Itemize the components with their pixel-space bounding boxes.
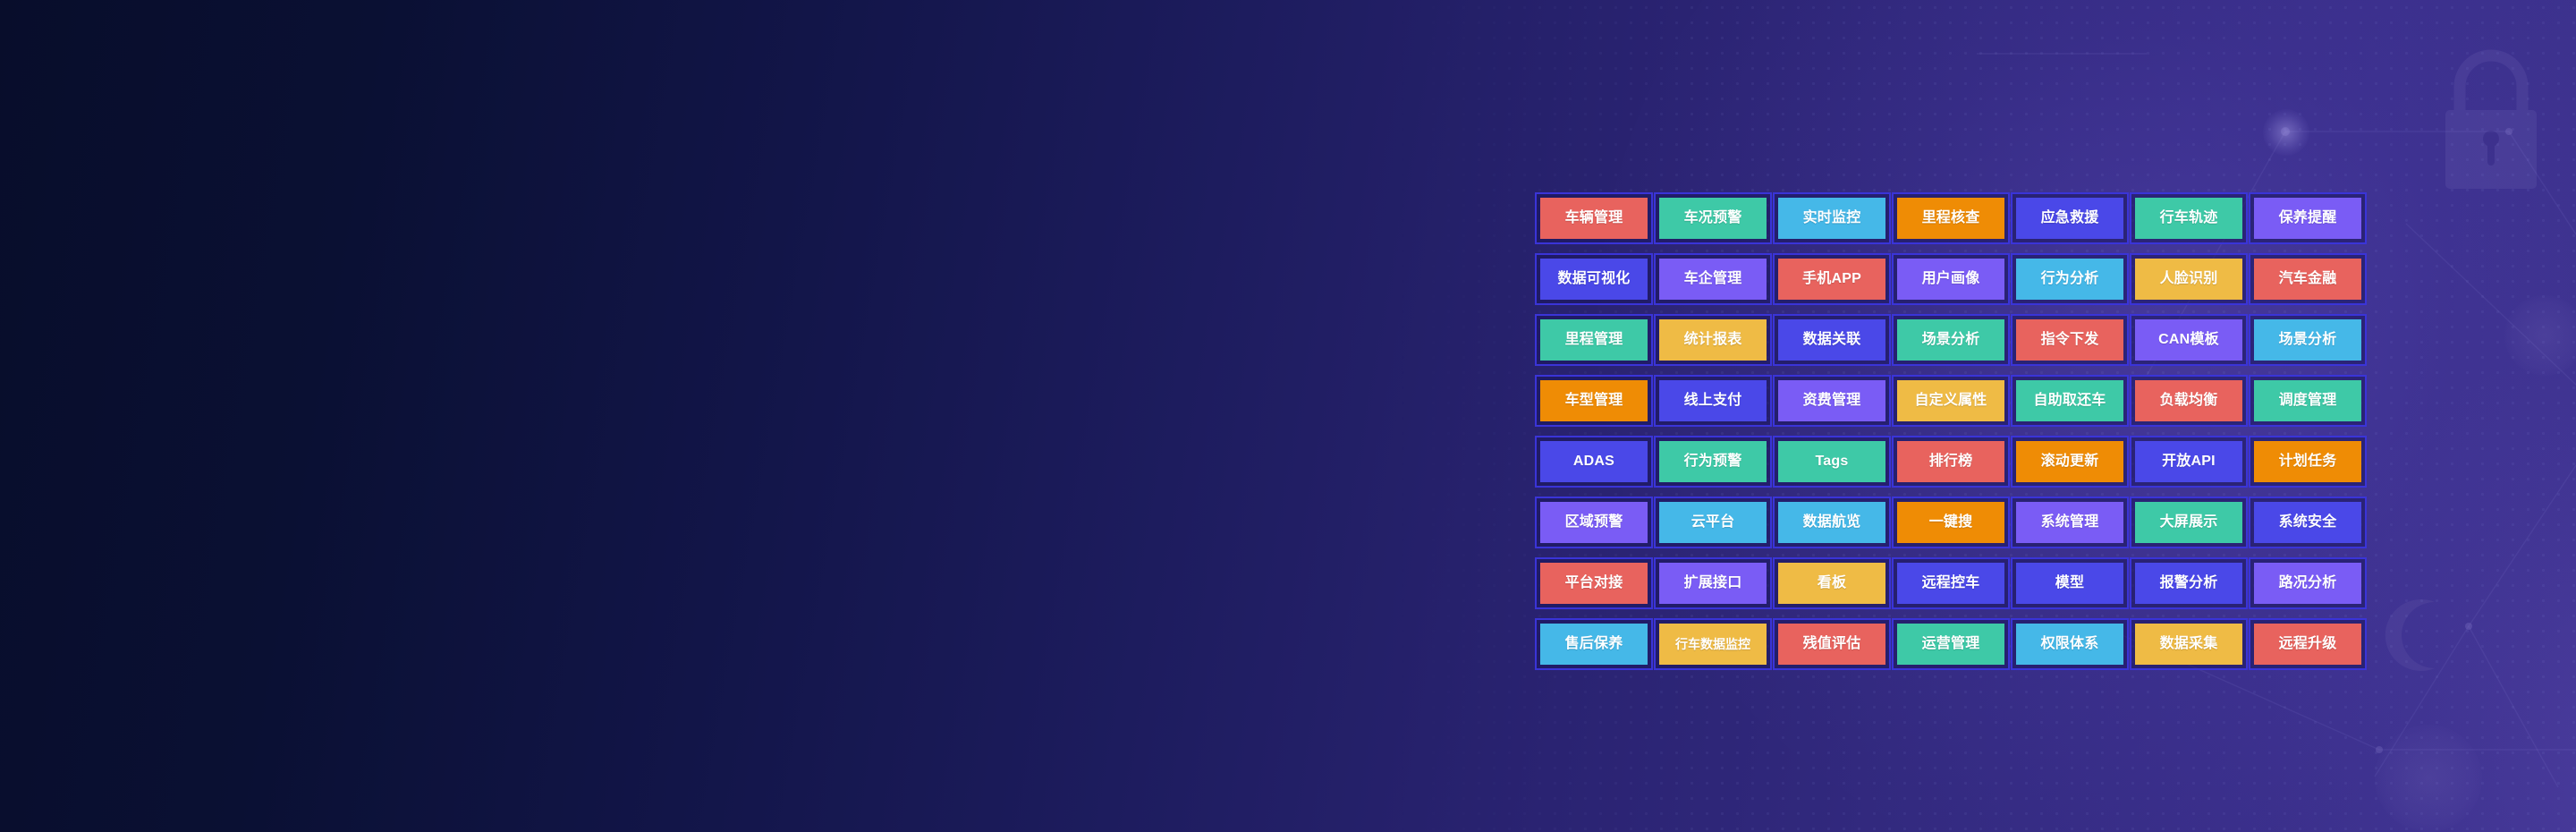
- feature-tile-label: 运营管理: [1897, 624, 2004, 665]
- feature-tile[interactable]: 计划任务: [2249, 436, 2367, 488]
- feature-tile-label: 用户画像: [1897, 259, 2004, 300]
- feature-tile[interactable]: 数据采集: [2130, 618, 2248, 670]
- feature-tile-label: 平台对接: [1540, 563, 1648, 604]
- feature-tile-label: 系统安全: [2254, 502, 2361, 543]
- feature-tile-label: 行车数据监控: [1659, 624, 1767, 665]
- feature-tile-label: 路况分析: [2254, 563, 2361, 604]
- feature-tile-label: CAN模板: [2135, 319, 2242, 361]
- feature-tile-label: Tags: [1778, 441, 1885, 482]
- feature-tile-label: 远程升级: [2254, 624, 2361, 665]
- feature-tile[interactable]: 开放API: [2130, 436, 2248, 488]
- feature-tile[interactable]: 统计报表: [1654, 314, 1772, 366]
- feature-tile-label: 数据采集: [2135, 624, 2242, 665]
- feature-tile-label: 扩展接口: [1659, 563, 1767, 604]
- feature-tile[interactable]: 售后保养: [1535, 618, 1653, 670]
- feature-tile[interactable]: 行为预警: [1654, 436, 1772, 488]
- feature-tile-label: 一键搜: [1897, 502, 2004, 543]
- feature-tile[interactable]: 用户画像: [1892, 253, 2010, 305]
- feature-tile-label: 车况预警: [1659, 198, 1767, 239]
- feature-tile-label: 人脸识别: [2135, 259, 2242, 300]
- feature-tile[interactable]: 权限体系: [2011, 618, 2129, 670]
- feature-tile[interactable]: 云平台: [1654, 497, 1772, 548]
- feature-tile[interactable]: 里程核查: [1892, 192, 2010, 244]
- feature-tile[interactable]: ADAS: [1535, 436, 1653, 488]
- feature-tile-label: 实时监控: [1778, 198, 1885, 239]
- feature-tile-label: 调度管理: [2254, 380, 2361, 421]
- feature-tile-label: 里程核查: [1897, 198, 2004, 239]
- feature-tile[interactable]: 负载均衡: [2130, 375, 2248, 427]
- feature-tile[interactable]: 远程控车: [1892, 557, 2010, 609]
- feature-tile-label: 负载均衡: [2135, 380, 2242, 421]
- feature-tile-label: 模型: [2016, 563, 2123, 604]
- feature-tile[interactable]: 行为分析: [2011, 253, 2129, 305]
- feature-tile-label: 云平台: [1659, 502, 1767, 543]
- feature-tile[interactable]: 汽车金融: [2249, 253, 2367, 305]
- feature-tile[interactable]: 应急救援: [2011, 192, 2129, 244]
- feature-tile-label: 自助取还车: [2016, 380, 2123, 421]
- screen-root: 车辆管理车况预警实时监控里程核查应急救援行车轨迹保养提醒数据可视化车企管理手机A…: [0, 0, 2576, 832]
- feature-tile-label: 场景分析: [1897, 319, 2004, 361]
- feature-tile-label: 资费管理: [1778, 380, 1885, 421]
- feature-tile-label: 行为预警: [1659, 441, 1767, 482]
- feature-tile[interactable]: 远程升级: [2249, 618, 2367, 670]
- feature-tile-label: 车企管理: [1659, 259, 1767, 300]
- feature-tile[interactable]: 实时监控: [1773, 192, 1891, 244]
- feature-tile-label: 数据航览: [1778, 502, 1885, 543]
- feature-tile[interactable]: 模型: [2011, 557, 2129, 609]
- feature-tile[interactable]: 保养提醒: [2249, 192, 2367, 244]
- feature-tile[interactable]: 行车数据监控: [1654, 618, 1772, 670]
- feature-tile-label: 行车轨迹: [2135, 198, 2242, 239]
- feature-tile-label: 开放API: [2135, 441, 2242, 482]
- feature-tile-label: 权限体系: [2016, 624, 2123, 665]
- feature-tile-label: 排行榜: [1897, 441, 2004, 482]
- feature-tile[interactable]: 滚动更新: [2011, 436, 2129, 488]
- feature-tile[interactable]: 扩展接口: [1654, 557, 1772, 609]
- feature-tile-label: 指令下发: [2016, 319, 2123, 361]
- feature-tile[interactable]: 里程管理: [1535, 314, 1653, 366]
- feature-tile[interactable]: 场景分析: [2249, 314, 2367, 366]
- feature-tile-label: 大屏展示: [2135, 502, 2242, 543]
- feature-tile-label: ADAS: [1540, 441, 1648, 482]
- feature-tile[interactable]: 残值评估: [1773, 618, 1891, 670]
- feature-tile-label: 数据可视化: [1540, 259, 1648, 300]
- feature-tile[interactable]: 大屏展示: [2130, 497, 2248, 548]
- feature-tile[interactable]: 排行榜: [1892, 436, 2010, 488]
- feature-tile-label: 车辆管理: [1540, 198, 1648, 239]
- feature-tile[interactable]: 数据航览: [1773, 497, 1891, 548]
- feature-tile-label: 远程控车: [1897, 563, 2004, 604]
- feature-tile[interactable]: 车型管理: [1535, 375, 1653, 427]
- feature-tile[interactable]: 指令下发: [2011, 314, 2129, 366]
- feature-tile[interactable]: 数据可视化: [1535, 253, 1653, 305]
- feature-tile[interactable]: 人脸识别: [2130, 253, 2248, 305]
- feature-tile-label: 保养提醒: [2254, 198, 2361, 239]
- feature-tile[interactable]: 行车轨迹: [2130, 192, 2248, 244]
- feature-tile-label: 场景分析: [2254, 319, 2361, 361]
- feature-tile[interactable]: 一键搜: [1892, 497, 2010, 548]
- feature-tile[interactable]: 手机APP: [1773, 253, 1891, 305]
- feature-tile-label: 汽车金融: [2254, 259, 2361, 300]
- feature-tile-label: 区域预警: [1540, 502, 1648, 543]
- feature-tile-label: 应急救援: [2016, 198, 2123, 239]
- feature-tile[interactable]: 自定义属性: [1892, 375, 2010, 427]
- feature-tile-label: 里程管理: [1540, 319, 1648, 361]
- feature-tile[interactable]: 车辆管理: [1535, 192, 1653, 244]
- feature-tile[interactable]: 系统管理: [2011, 497, 2129, 548]
- feature-tile[interactable]: 系统安全: [2249, 497, 2367, 548]
- feature-tile[interactable]: 数据关联: [1773, 314, 1891, 366]
- feature-tile-label: 报警分析: [2135, 563, 2242, 604]
- feature-tile-label: 线上支付: [1659, 380, 1767, 421]
- feature-tile[interactable]: 自助取还车: [2011, 375, 2129, 427]
- feature-tile-label: 残值评估: [1778, 624, 1885, 665]
- feature-tile[interactable]: 场景分析: [1892, 314, 2010, 366]
- feature-tile[interactable]: 车况预警: [1654, 192, 1772, 244]
- feature-tile-label: 计划任务: [2254, 441, 2361, 482]
- feature-tile[interactable]: 看板: [1773, 557, 1891, 609]
- feature-tile-label: 数据关联: [1778, 319, 1885, 361]
- feature-tile[interactable]: 调度管理: [2249, 375, 2367, 427]
- feature-tile-label: 手机APP: [1778, 259, 1885, 300]
- feature-tile-label: 系统管理: [2016, 502, 2123, 543]
- feature-tile-label: 看板: [1778, 563, 1885, 604]
- feature-tile[interactable]: 路况分析: [2249, 557, 2367, 609]
- feature-tile[interactable]: 资费管理: [1773, 375, 1891, 427]
- feature-tile-grid: 车辆管理车况预警实时监控里程核查应急救援行车轨迹保养提醒数据可视化车企管理手机A…: [1535, 192, 2367, 670]
- feature-tile-label: 售后保养: [1540, 624, 1648, 665]
- feature-tile[interactable]: 平台对接: [1535, 557, 1653, 609]
- feature-tile[interactable]: Tags: [1773, 436, 1891, 488]
- feature-tile[interactable]: 线上支付: [1654, 375, 1772, 427]
- feature-tile[interactable]: CAN模板: [2130, 314, 2248, 366]
- feature-tile[interactable]: 运营管理: [1892, 618, 2010, 670]
- feature-tile[interactable]: 车企管理: [1654, 253, 1772, 305]
- feature-tile-label: 滚动更新: [2016, 441, 2123, 482]
- feature-tile[interactable]: 区域预警: [1535, 497, 1653, 548]
- feature-tile[interactable]: 报警分析: [2130, 557, 2248, 609]
- feature-tile-label: 自定义属性: [1897, 380, 2004, 421]
- feature-tile-label: 车型管理: [1540, 380, 1648, 421]
- feature-tile-label: 统计报表: [1659, 319, 1767, 361]
- feature-tile-label: 行为分析: [2016, 259, 2123, 300]
